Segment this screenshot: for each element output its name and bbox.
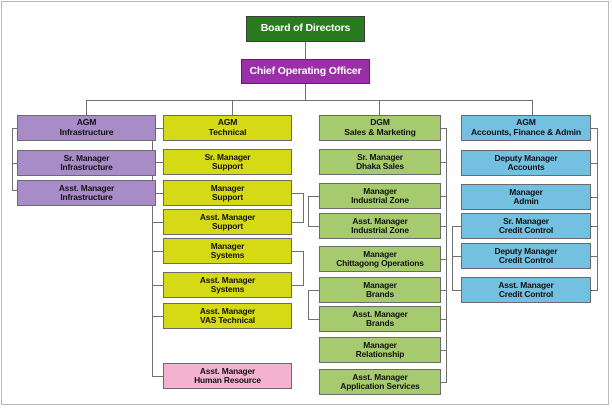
connector-stub-technical-3	[152, 251, 163, 252]
node-sr-manager-credit-control[interactable]: Sr. Manager Credit Control	[461, 213, 591, 239]
connector-bus-drop-infrastructure	[86, 100, 87, 116]
node-line2: Chittagong Operations	[320, 259, 440, 268]
node-asst-manager-brands[interactable]: Asst. Manager Brands	[319, 306, 441, 332]
connector-bus-drop-technical	[232, 100, 233, 116]
node-line2: Credit Control	[462, 226, 590, 235]
node-line2: Industrial Zone	[320, 196, 440, 205]
node-agm-infrastructure[interactable]: AGM Infrastructure	[17, 115, 156, 141]
node-line2: Dhaka Sales	[320, 162, 440, 171]
connector-stub-accounts-2	[591, 226, 598, 227]
connector-bracket-technical-systems-bottom	[292, 285, 304, 286]
node-agm-technical[interactable]: AGM Technical	[163, 115, 292, 141]
node-board-of-directors[interactable]: Board of Directors	[246, 16, 365, 42]
node-line2: Human Resource	[164, 376, 291, 385]
node-line2: Accounts	[462, 163, 590, 172]
node-line2: VAS Technical	[164, 316, 291, 325]
connector-stub-accounts-1	[591, 197, 598, 198]
node-dgm-sales-marketing[interactable]: DGM Sales & Marketing	[319, 115, 441, 141]
node-line2: Systems	[164, 285, 291, 294]
node-manager-admin[interactable]: Manager Admin	[461, 184, 591, 210]
node-manager-chittagong-operations[interactable]: Manager Chittagong Operations	[319, 246, 441, 272]
node-line2: Credit Control	[462, 256, 590, 265]
connector-bracket-sales-industrial-top	[308, 196, 319, 197]
node-manager-industrial-zone[interactable]: Manager Industrial Zone	[319, 183, 441, 209]
connector-stub-sales-head	[441, 128, 447, 129]
node-agm-accounts-finance-admin[interactable]: AGM Accounts, Finance & Admin	[461, 115, 591, 141]
node-asst-manager-infrastructure[interactable]: Asst. Manager Infrastructure	[17, 180, 156, 206]
connector-bracket-sales-brands	[308, 290, 309, 319]
node-asst-manager-systems[interactable]: Asst. Manager Systems	[163, 272, 292, 298]
node-line2: Systems	[164, 251, 291, 260]
connector-stub-accounts-head	[591, 128, 598, 129]
org-chart: Board of Directors Chief Operating Offic…	[0, 0, 612, 408]
node-deputy-manager-credit-control[interactable]: Deputy Manager Credit Control	[461, 243, 591, 269]
node-line2: Brands	[320, 290, 440, 299]
node-line2: Application Services	[320, 382, 440, 391]
connector-bus-drop-accounts	[532, 100, 533, 116]
node-line1: Board of Directors	[247, 23, 364, 35]
connector-stub-accounts-0	[591, 163, 598, 164]
node-line2: Relationship	[320, 350, 440, 359]
node-line2: Infrastructure	[18, 128, 155, 138]
node-line2: Accounts, Finance & Admin	[462, 128, 590, 138]
connector-bracket-sales-industrial-bottom	[308, 226, 319, 227]
connector-stub-sales-6	[441, 350, 447, 351]
connector-stub-sales-2	[441, 226, 447, 227]
connector-stub-technical-hr	[152, 376, 163, 377]
connector-bracket-accounts-credit	[452, 226, 453, 290]
node-asst-manager-support[interactable]: Asst. Manager Support	[163, 209, 292, 235]
connector-coo-to-bus	[305, 84, 306, 101]
node-sr-manager-dhaka-sales[interactable]: Sr. Manager Dhaka Sales	[319, 149, 441, 175]
node-line2: Support	[164, 162, 291, 171]
connector-bracket-technical-systems-top	[292, 251, 304, 252]
node-line2: Support	[164, 222, 291, 231]
connector-stub-sales-7	[441, 382, 447, 383]
node-line2: Technical	[164, 128, 291, 138]
connector-spine-sales	[446, 128, 447, 382]
connector-stub-technical-2	[152, 222, 163, 223]
node-asst-manager-application-services[interactable]: Asst. Manager Application Services	[319, 369, 441, 395]
node-chief-operating-officer[interactable]: Chief Operating Officer	[241, 59, 370, 84]
connector-bracket-sales-brands-bottom	[308, 319, 319, 320]
connector-stub-sales-4	[441, 290, 447, 291]
connector-bracket-technical-support-top	[292, 193, 304, 194]
node-deputy-manager-accounts[interactable]: Deputy Manager Accounts	[461, 150, 591, 176]
node-line1: Chief Operating Officer	[242, 66, 369, 78]
connector-board-to-coo	[305, 42, 306, 59]
node-line2: Support	[164, 193, 291, 202]
node-line2: Infrastructure	[18, 163, 155, 172]
node-manager-systems[interactable]: Manager Systems	[163, 238, 292, 264]
connector-stub-sales-5	[441, 319, 447, 320]
connector-bracket-technical-support-bottom	[292, 222, 304, 223]
node-manager-support[interactable]: Manager Support	[163, 180, 292, 206]
connector-bracket-sales-industrial	[308, 196, 309, 226]
connector-spine-infrastructure	[12, 128, 13, 190]
connector-bracket-accounts-credit-top	[452, 226, 461, 227]
node-asst-manager-industrial-zone[interactable]: Asst. Manager Industrial Zone	[319, 213, 441, 239]
connector-bracket-accounts-credit-mid	[452, 256, 461, 257]
node-line2: Admin	[462, 197, 590, 206]
connector-bracket-accounts-credit-bottom	[452, 290, 461, 291]
node-asst-manager-vas-technical[interactable]: Asst. Manager VAS Technical	[163, 303, 292, 329]
connector-stub-accounts-3	[591, 256, 598, 257]
node-manager-brands[interactable]: Manager Brands	[319, 277, 441, 303]
connector-stub-technical-4	[152, 285, 163, 286]
node-sr-manager-infrastructure[interactable]: Sr. Manager Infrastructure	[17, 150, 156, 176]
connector-bracket-technical-systems	[303, 251, 304, 285]
connector-stub-sales-1	[441, 196, 447, 197]
node-line2: Credit Control	[462, 290, 590, 299]
connector-stub-technical-5	[152, 316, 163, 317]
node-asst-manager-credit-control[interactable]: Asst. Manager Credit Control	[461, 277, 591, 303]
node-asst-manager-human-resource[interactable]: Asst. Manager Human Resource	[163, 363, 292, 389]
connector-spine-accounts	[597, 128, 598, 290]
node-line2: Industrial Zone	[320, 226, 440, 235]
connector-bracket-sales-brands-top	[308, 290, 319, 291]
node-line2: Brands	[320, 319, 440, 328]
node-line2: Sales & Marketing	[320, 128, 440, 138]
connector-bus-drop-sales	[379, 100, 380, 116]
connector-bus-horizontal	[86, 100, 533, 101]
node-line2: Infrastructure	[18, 193, 155, 202]
connector-stub-sales-0	[441, 162, 447, 163]
node-manager-relationship[interactable]: Manager Relationship	[319, 337, 441, 363]
connector-stub-sales-3	[441, 259, 447, 260]
node-sr-manager-support[interactable]: Sr. Manager Support	[163, 149, 292, 175]
connector-bracket-technical-support	[303, 193, 304, 222]
connector-stub-accounts-4	[591, 290, 598, 291]
